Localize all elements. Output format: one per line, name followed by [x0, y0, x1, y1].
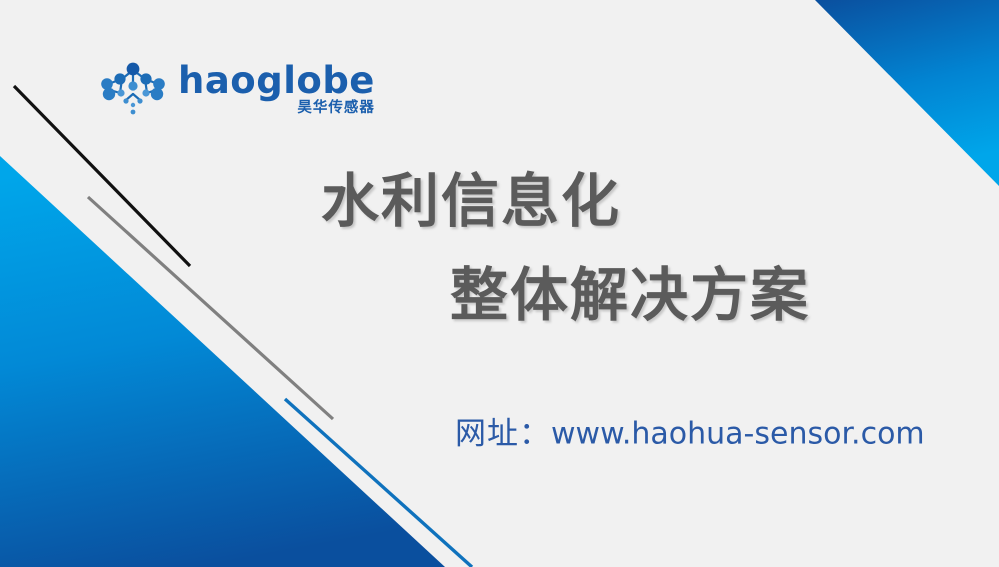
- brand-chinese-name: 昊华传感器: [297, 101, 375, 116]
- page-title-line-2: 整体解决方案: [450, 266, 810, 324]
- brand-wordmark: haoglobe: [178, 63, 375, 98]
- website-url[interactable]: www.haohua-sensor.com: [551, 417, 925, 452]
- website-label: 网址：: [455, 416, 551, 452]
- page-title-line-1: 水利信息化: [321, 172, 621, 230]
- website-line: 网址：www.haohua-sensor.com: [455, 419, 925, 450]
- slide-canvas: haoglobe 昊华传感器 水利信息化 整体解决方案 网址：www.haohu…: [0, 0, 999, 567]
- brand-text: haoglobe 昊华传感器: [178, 63, 375, 116]
- brand-logo: haoglobe 昊华传感器: [96, 57, 326, 121]
- network-dots-icon: [96, 60, 170, 118]
